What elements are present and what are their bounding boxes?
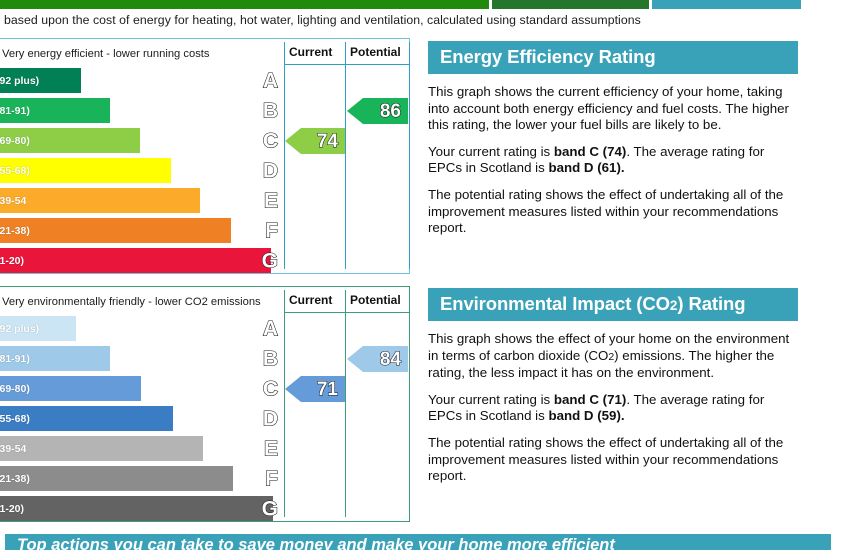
band-row: (21-38)F: [0, 464, 283, 494]
eir-column-header-current: Current: [289, 293, 332, 307]
band-row: (92 plus)A: [0, 66, 283, 96]
eir-panel-title: Environmental Impact (CO2) Rating: [428, 288, 798, 321]
band-row: (69-80)C: [0, 374, 283, 404]
environmental-impact-rating-chart: Very environmentally friendly - lower CO…: [0, 286, 410, 522]
eir-p2-lead: Your current rating is: [428, 392, 554, 407]
band-range-e: (39-54: [0, 443, 26, 455]
eer-current-band: band C (74): [554, 144, 626, 159]
energy-efficiency-rating-panel: Energy Efficiency Rating This graph show…: [428, 41, 798, 237]
environmental-impact-rating-panel: Environmental Impact (CO2) Rating This g…: [428, 288, 798, 485]
eer-p2-lead: Your current rating is: [428, 144, 554, 159]
band-letter-f: F: [265, 469, 278, 490]
strip-segment-green-dark: [492, 0, 649, 9]
eer-top-caption: Very energy efficient - lower running co…: [2, 48, 210, 60]
band-letter-a: A: [263, 71, 278, 92]
eer-paragraph-2: Your current rating is band C (74). The …: [428, 144, 796, 177]
eir-column-header-potential: Potential: [350, 293, 401, 307]
band-letter-c: C: [263, 379, 278, 400]
band-range-a: (92 plus): [0, 323, 39, 335]
band-row: (55-68)D: [0, 404, 283, 434]
band-letter-d: D: [263, 161, 278, 182]
band-letter-g: G: [262, 251, 278, 272]
eer-column-header-current: Current: [289, 45, 332, 59]
band-range-a: (92 plus): [0, 75, 39, 87]
band-range-g: (1-20): [0, 255, 24, 267]
band-letter-f: F: [265, 221, 278, 242]
band-letter-b: B: [263, 101, 278, 122]
band-range-c: (69-80): [0, 135, 30, 147]
band-row: (1-20)G: [0, 494, 283, 524]
eer-average-band: band D (61).: [548, 160, 624, 175]
band-row: (69-80)C: [0, 126, 283, 156]
band-range-b: (81-91): [0, 353, 30, 365]
band-letter-d: D: [263, 409, 278, 430]
eer-current-marker: 74: [285, 128, 345, 154]
eir-top-caption: Very environmentally friendly - lower CO…: [2, 296, 261, 308]
band-range-e: (39-54: [0, 195, 26, 207]
eer-paragraph-3: The potential rating shows the effect of…: [428, 187, 796, 237]
top-color-strip: [0, 0, 843, 9]
energy-efficiency-rating-chart: Very energy efficient - lower running co…: [0, 38, 410, 274]
eir-title-main: Environmental Impact (CO: [440, 293, 670, 314]
bottom-banner-heading: Top actions you can take to save money a…: [5, 534, 831, 550]
eer-panel-title: Energy Efficiency Rating: [428, 41, 798, 74]
intro-text: based upon the cost of energy for heatin…: [4, 13, 824, 28]
band-letter-a: A: [263, 319, 278, 340]
band-row: (39-54E: [0, 186, 283, 216]
band-e: [0, 188, 200, 213]
strip-segment-green-primary: [0, 0, 489, 9]
strip-tail: [801, 0, 843, 9]
band-row: (92 plus)A: [0, 314, 283, 344]
eer-paragraph-1: This graph shows the current efficiency …: [428, 84, 796, 134]
band-range-d: (55-68): [0, 165, 30, 177]
eer-column-header-potential: Potential: [350, 45, 401, 59]
band-row: (39-54E: [0, 434, 283, 464]
eir-paragraph-1: This graph shows the effect of your home…: [428, 331, 796, 382]
band-f: [0, 218, 231, 243]
band-range-f: (21-38): [0, 225, 30, 237]
band-g: [0, 496, 273, 521]
eir-paragraph-2: Your current rating is band C (71). The …: [428, 392, 796, 425]
eir-current-marker: 71: [285, 376, 345, 402]
band-row: (81-91)B: [0, 96, 283, 126]
band-row: (21-38)F: [0, 216, 283, 246]
eer-band-list: (92 plus)A (81-91)B (69-80)C (55-68)D (3…: [0, 66, 283, 276]
band-range-g: (1-20): [0, 503, 24, 515]
band-letter-e: E: [264, 439, 278, 460]
eir-average-band: band D (59).: [548, 408, 624, 423]
band-row: (1-20)G: [0, 246, 283, 276]
eir-paragraph-3: The potential rating shows the effect of…: [428, 435, 796, 485]
band-letter-c: C: [263, 131, 278, 152]
eer-potential-marker: 86: [347, 98, 408, 124]
band-g: [0, 248, 271, 273]
band-range-d: (55-68): [0, 413, 30, 425]
band-letter-g: G: [262, 499, 278, 520]
band-letter-b: B: [263, 349, 278, 370]
eir-title-suffix: ) Rating: [677, 293, 745, 314]
band-range-f: (21-38): [0, 473, 30, 485]
band-row: (81-91)B: [0, 344, 283, 374]
eir-current-band: band C (71): [554, 392, 626, 407]
eir-band-list: (92 plus)A (81-91)B (69-80)C (55-68)D (3…: [0, 314, 283, 524]
band-row: (55-68)D: [0, 156, 283, 186]
band-range-b: (81-91): [0, 105, 30, 117]
band-range-c: (69-80): [0, 383, 30, 395]
band-e: [0, 436, 203, 461]
eir-potential-marker: 84: [347, 346, 408, 372]
band-f: [0, 466, 233, 491]
strip-segment-teal: [652, 0, 801, 9]
band-letter-e: E: [264, 191, 278, 212]
